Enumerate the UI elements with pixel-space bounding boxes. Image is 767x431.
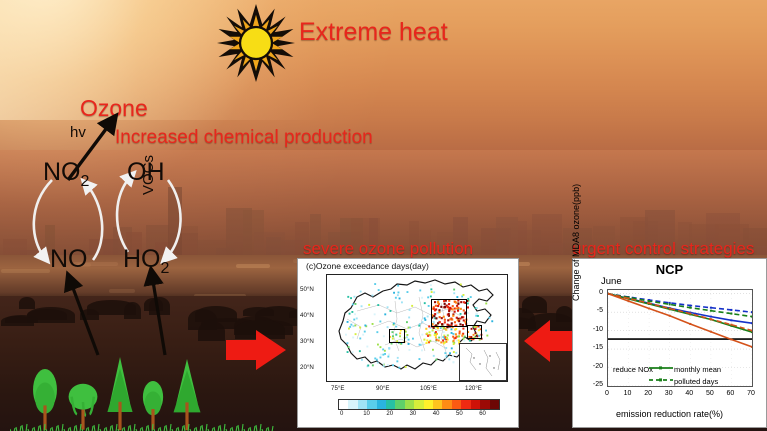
colorbar-segment [395,400,404,409]
chart-x-tick-label: 70 [744,390,758,397]
chart-y-tick-label: -5 [581,307,603,314]
ncp-ozone-response-chart-panel[interactable]: NCP June Change of MDA8 ozone(ppb) emiss… [572,258,767,428]
colorbar-segment [386,400,395,409]
chart-legend-swatches [647,363,707,389]
colorbar-tick-label: 0 [340,411,343,417]
colorbar-segment [414,400,423,409]
chart-y-tick-label: -10 [581,326,603,333]
chart-x-tick-label: 20 [641,390,655,397]
map-lat-tick-50n: 50°N [300,286,314,293]
chart-y-axis-label: Change of MDA8 ozone(ppb) [571,184,581,301]
map-lat-tick-30n: 30°N [300,338,314,345]
figure-canvas: Extreme heat Ozone Increased chemical pr… [0,0,767,431]
map-lon-tick-120e: 120°E [465,385,482,392]
chart-x-tick-label: 40 [682,390,696,397]
colorbar-tick-label: 30 [410,411,417,417]
map-plot-area [326,274,508,382]
chart-y-tick-label: 0 [581,289,603,296]
colorbar-segment [405,400,414,409]
foreground-vegetation [243,307,274,316]
vocs-label: VOCs [140,155,157,195]
chart-x-axis-label: emission reduction rate(%) [573,409,766,419]
chart-x-tick-label: 10 [621,390,635,397]
species-no: NO [50,245,88,274]
species-no2-text: NO [43,158,81,186]
colorbar-segment [433,400,442,409]
colorbar-tick-label: 40 [433,411,440,417]
map-lon-tick-105e: 105°E [420,385,437,392]
sun-icon [217,4,295,82]
colorbar-segment [461,400,470,409]
colorbar-segment [424,400,433,409]
map-lat-tick-20n: 20°N [300,364,314,371]
chart-x-tick-label: 30 [662,390,676,397]
colorbar-segment [480,400,489,409]
colorbar-segment [367,400,376,409]
map-colorbar [338,399,500,410]
map-title: (c)Ozone exceedance days(day) [306,261,429,271]
colorbar-segment [348,400,357,409]
ozone-exceedance-map-panel[interactable]: (c)Ozone exceedance days(day) [297,258,519,428]
chart-x-tick-label: 50 [703,390,717,397]
photolysis-label: hv [70,124,86,141]
map-lon-tick-90e: 90°E [376,385,389,392]
species-ho2-subscript: 2 [161,260,170,277]
extreme-heat-label: Extreme heat [299,18,448,47]
grass-strip [10,419,275,428]
arrow-right-icon [226,328,288,372]
colorbar-segment [490,400,499,409]
colorbar-segment [377,400,386,409]
species-no2-subscript: 2 [81,173,90,190]
chart-y-tick-label: -15 [581,344,603,351]
map-lon-tick-75e: 75°E [331,385,344,392]
species-no2: NO2 [43,158,89,191]
colorbar-tick-label: 60 [479,411,486,417]
colorbar-segment [358,400,367,409]
south-china-sea-inset [459,343,507,381]
highlight-box-sichuan [389,329,405,343]
colorbar-segment [339,400,348,409]
chart-title: NCP [573,262,766,277]
chart-x-tick-label: 60 [723,390,737,397]
colorbar-segment [452,400,461,409]
foreground-vegetation [522,296,547,313]
colorbar-tick-label: 50 [456,411,463,417]
urgent-control-strategies-label: urgent control strategies [572,239,754,259]
water-reflection [236,264,270,268]
chart-x-tick-label: 0 [600,390,614,397]
colorbar-tick-label: 10 [363,411,370,417]
species-ho2: HO2 [123,245,169,278]
chart-y-tick-label: -25 [581,381,603,388]
species-ho2-text: HO [123,245,161,273]
colorbar-tick-label: 20 [386,411,393,417]
map-lat-tick-40n: 40°N [300,312,314,319]
colorbar-segment [471,400,480,409]
chart-month-label: June [601,276,622,287]
severe-ozone-pollution-label: severe ozone pollution [303,239,473,259]
highlight-box-yrd [467,325,482,339]
chart-y-tick-label: -20 [581,363,603,370]
highlight-box-ncp [431,299,467,327]
colorbar-segment [442,400,451,409]
